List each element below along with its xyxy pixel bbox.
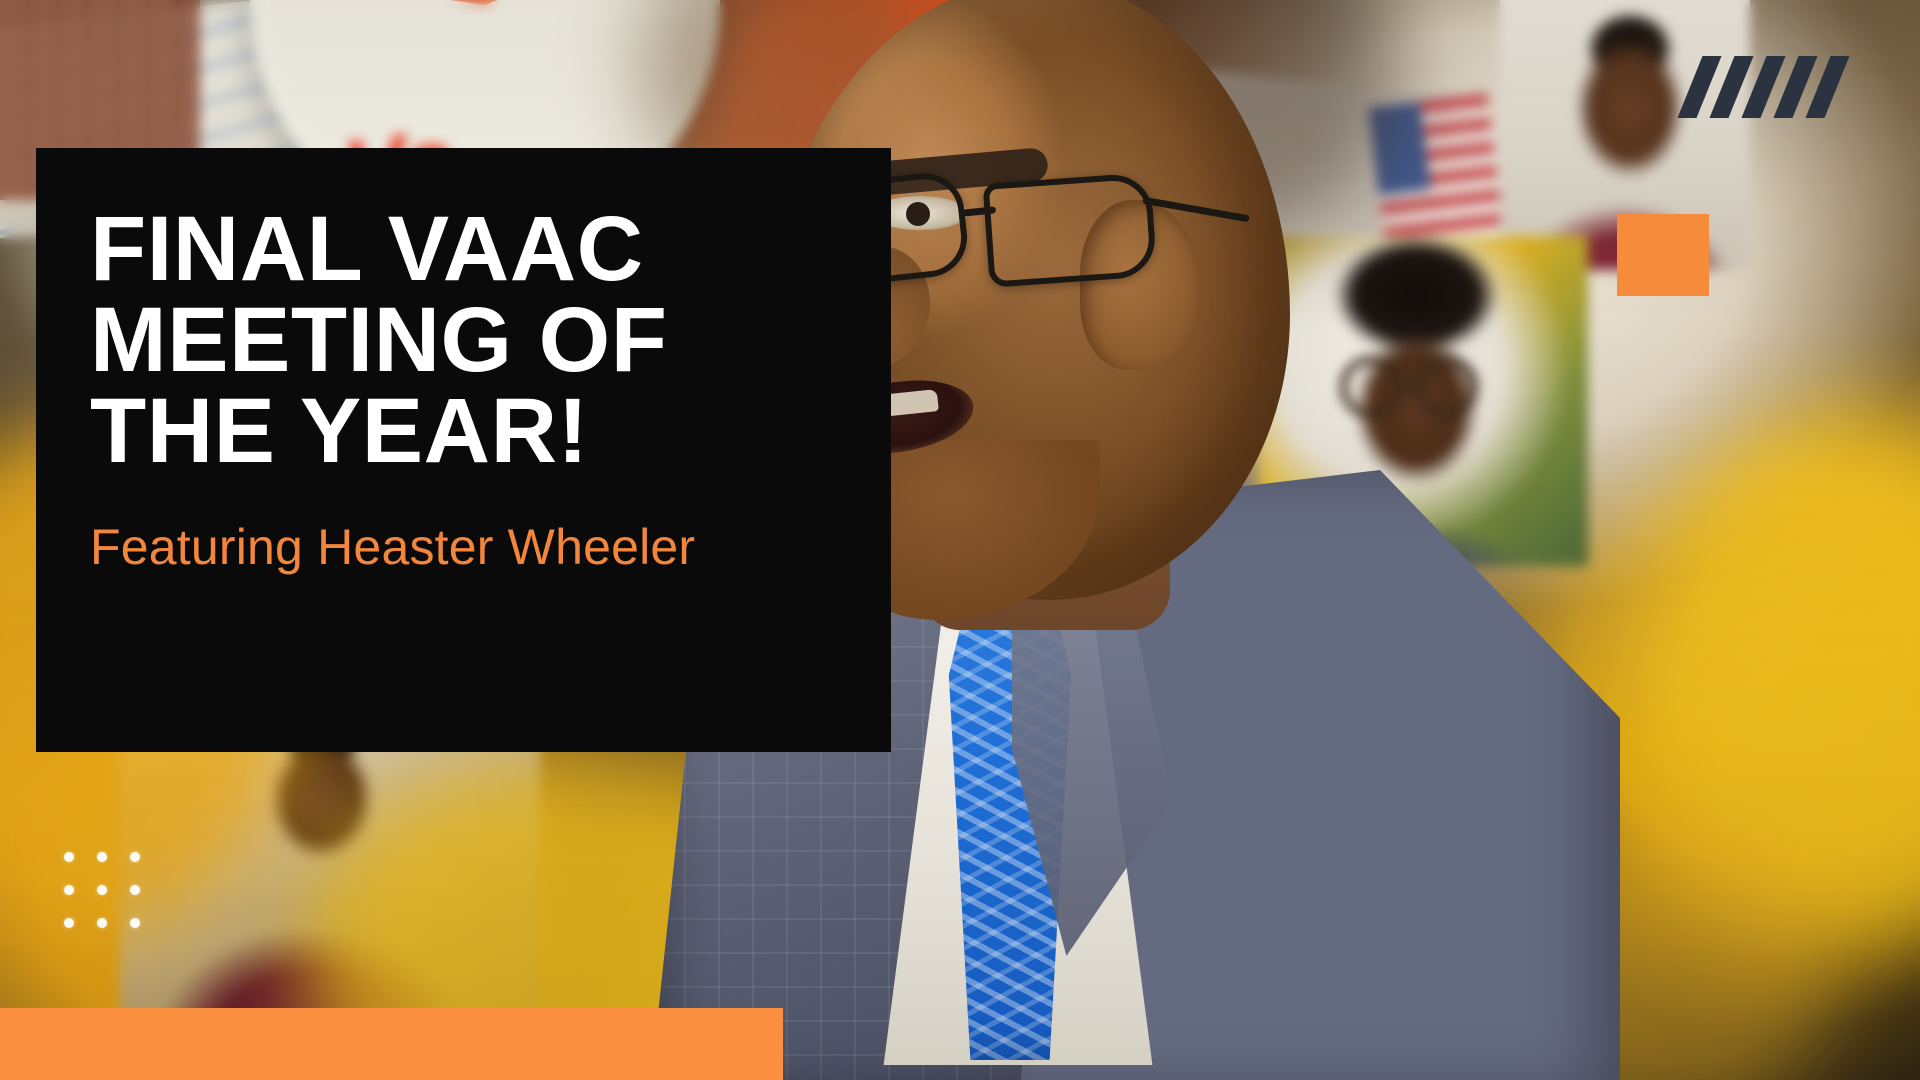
grid-dot	[64, 852, 74, 862]
grid-dot	[97, 852, 107, 862]
grid-dot	[64, 918, 74, 928]
grid-dot	[97, 885, 107, 895]
grid-dot	[130, 918, 140, 928]
grid-dot	[64, 885, 74, 895]
grid-dot	[130, 852, 140, 862]
grid-dot	[97, 918, 107, 928]
subtitle-featuring: Featuring Heaster Wheeler	[90, 521, 831, 574]
orange-square-accent	[1617, 214, 1709, 296]
promo-graphic: Vo I ★ ★ ★ ★ ★	[0, 0, 1920, 1080]
diagonal-stripes-logo	[1690, 56, 1878, 118]
title-panel: FINAL VAAC MEETING OF THE YEAR! Featurin…	[36, 148, 891, 752]
dot-grid-accent	[64, 852, 140, 928]
glasses-lens-right	[983, 172, 1158, 287]
page-title: FINAL VAAC MEETING OF THE YEAR!	[90, 204, 831, 477]
grid-dot	[130, 885, 140, 895]
bottom-orange-bar	[0, 1008, 783, 1080]
